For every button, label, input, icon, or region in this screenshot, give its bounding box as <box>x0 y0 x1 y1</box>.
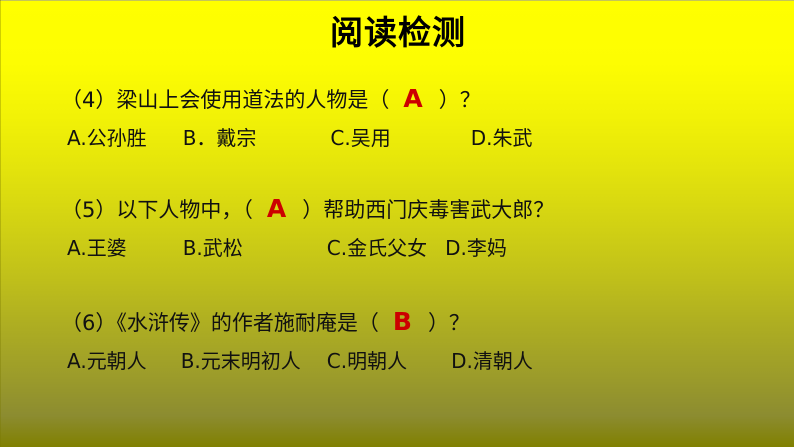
question-stem-5: （5）以下人物中，（A）帮助西门庆毒害武大郎？ <box>61 194 554 225</box>
question-answer-6: B <box>379 307 428 336</box>
option-a-label-5: A. <box>67 236 87 260</box>
option-a-5[interactable]: A.王婆 <box>67 234 127 263</box>
option-a-text-5: 王婆 <box>87 236 127 260</box>
option-a-text-4: 公孙胜 <box>87 126 147 150</box>
option-b-label-5: B. <box>183 236 203 260</box>
option-c-label-4: C. <box>330 126 350 150</box>
option-c-text-5: 金氏父女 <box>347 236 427 260</box>
option-d-6[interactable]: D.清朝人 <box>451 347 533 376</box>
option-d-label-4: D. <box>471 126 493 150</box>
option-d-label-6: D. <box>451 349 473 373</box>
option-b-label-4: B． <box>183 126 217 150</box>
option-c-6[interactable]: C.明朝人 <box>327 347 407 376</box>
question-stem-4: （4）梁山上会使用道法的人物是（A）？ <box>61 84 533 115</box>
option-b-text-5: 武松 <box>203 236 243 260</box>
option-a-text-6: 元朝人 <box>87 349 147 373</box>
question-number-4: （4） <box>61 88 116 112</box>
option-a-6[interactable]: A.元朝人 <box>67 347 147 376</box>
option-c-5[interactable]: C.金氏父女 <box>327 234 427 263</box>
option-c-label-6: C. <box>327 349 347 373</box>
option-b-text-6: 元末明初人 <box>201 349 301 373</box>
question-options-6: A.元朝人B.元末明初人C.明朝人D.清朝人 <box>67 347 533 376</box>
option-c-label-5: C. <box>327 236 347 260</box>
option-d-5[interactable]: D.李妈 <box>445 234 507 263</box>
question-answer-4: A <box>389 84 438 113</box>
question-block-6: （6）《水浒传》的作者施耐庵是（B）？ A.元朝人B.元末明初人C.明朝人D.清… <box>61 307 533 376</box>
question-options-4: A.公孙胜B．戴宗C.吴用D.朱武 <box>67 124 533 153</box>
question-number-5: （5） <box>61 198 116 222</box>
page-title: 阅读检测 <box>1 14 794 52</box>
option-a-label-4: A. <box>67 126 87 150</box>
option-d-text-4: 朱武 <box>493 126 533 150</box>
option-d-text-5: 李妈 <box>467 236 507 260</box>
option-c-4[interactable]: C.吴用 <box>330 124 390 153</box>
question-block-5: （5）以下人物中，（A）帮助西门庆毒害武大郎？ A.王婆B.武松C.金氏父女D.… <box>61 194 554 263</box>
question-tail-6: ）？ <box>428 311 470 335</box>
option-a-label-6: A. <box>67 349 87 373</box>
option-b-5[interactable]: B.武松 <box>183 234 243 263</box>
question-text-4: 梁山上会使用道法的人物是（ <box>116 88 389 112</box>
option-d-text-6: 清朝人 <box>473 349 533 373</box>
option-b-4[interactable]: B．戴宗 <box>183 124 257 153</box>
question-text-6: 《水浒传》的作者施耐庵是（ <box>116 311 379 335</box>
slide-canvas: 阅读检测 （4）梁山上会使用道法的人物是（A）？ A.公孙胜B．戴宗C.吴用D.… <box>0 0 794 447</box>
question-answer-5: A <box>253 194 302 223</box>
option-a-4[interactable]: A.公孙胜 <box>67 124 147 153</box>
question-tail-5: ）帮助西门庆毒害武大郎？ <box>302 198 554 222</box>
option-d-4[interactable]: D.朱武 <box>471 124 533 153</box>
question-block-4: （4）梁山上会使用道法的人物是（A）？ A.公孙胜B．戴宗C.吴用D.朱武 <box>61 84 533 153</box>
question-stem-6: （6）《水浒传》的作者施耐庵是（B）？ <box>61 307 533 338</box>
option-d-label-5: D. <box>445 236 467 260</box>
question-number-6: （6） <box>61 311 116 335</box>
question-text-5: 以下人物中，（ <box>116 198 253 222</box>
option-c-text-4: 吴用 <box>351 126 391 150</box>
option-b-label-6: B. <box>181 349 201 373</box>
option-b-text-4: 戴宗 <box>216 126 256 150</box>
option-c-text-6: 明朝人 <box>347 349 407 373</box>
question-options-5: A.王婆B.武松C.金氏父女D.李妈 <box>67 234 554 263</box>
option-b-6[interactable]: B.元末明初人 <box>181 347 301 376</box>
question-tail-4: ）？ <box>439 88 481 112</box>
